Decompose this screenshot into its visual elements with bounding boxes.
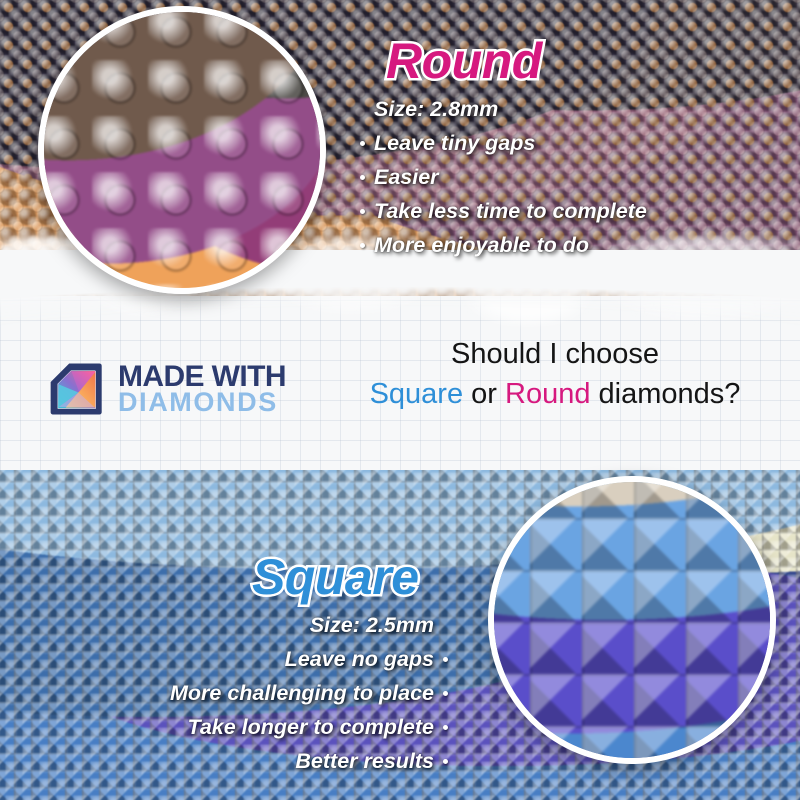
list-item: Leave no gaps bbox=[170, 642, 448, 676]
round-title: Round bbox=[386, 32, 542, 90]
bullet-dot bbox=[360, 175, 365, 180]
brand-name-line2: DIAMONDS bbox=[118, 390, 286, 415]
list-item: More enjoyable to do bbox=[360, 228, 647, 262]
diamond-logo-icon bbox=[46, 360, 104, 418]
square-drills-zoom-circle bbox=[488, 476, 776, 764]
round-bullet-text: Easier bbox=[374, 160, 439, 194]
square-size-label: Size: 2.5mm bbox=[310, 608, 434, 642]
brand-wordmark: MADE WITH DIAMONDS bbox=[118, 363, 286, 415]
round-bullet-text: More enjoyable to do bbox=[374, 228, 589, 262]
question-connector: or bbox=[463, 378, 505, 410]
question-line2: Square or Round diamonds? bbox=[330, 374, 780, 414]
round-bullet-text: Leave tiny gaps bbox=[374, 126, 535, 160]
list-item: Take longer to complete bbox=[170, 710, 448, 744]
brand-name-line1: MADE WITH bbox=[118, 363, 286, 391]
bullet-dot bbox=[443, 725, 448, 730]
list-item: Take less time to complete bbox=[360, 194, 647, 228]
bullet-dot bbox=[443, 759, 448, 764]
square-zoom-texture bbox=[488, 476, 776, 764]
list-item: Better results bbox=[170, 744, 448, 778]
square-size-line: Size: 2.5mm bbox=[170, 608, 448, 642]
bullet-dot bbox=[360, 243, 365, 248]
question-line1: Should I choose bbox=[451, 338, 659, 370]
square-bullet-text: Leave no gaps bbox=[285, 642, 434, 676]
list-item: More challenging to place bbox=[170, 676, 448, 710]
list-item: Easier bbox=[360, 160, 647, 194]
square-bullet-list: Size: 2.5mm Leave no gaps More challengi… bbox=[170, 608, 448, 778]
round-drills-zoom-circle bbox=[38, 6, 326, 294]
round-bullet-text: Take less time to complete bbox=[374, 194, 647, 228]
square-title: Square bbox=[252, 548, 419, 606]
question-tail: diamonds? bbox=[590, 378, 740, 410]
square-bullet-text: More challenging to place bbox=[170, 676, 434, 710]
brand-logo[interactable]: MADE WITH DIAMONDS bbox=[46, 360, 286, 418]
round-zoom-texture bbox=[38, 6, 326, 294]
round-size-line: Size: 2.8mm bbox=[360, 92, 647, 126]
round-bullet-list: Size: 2.8mm Leave tiny gaps Easier Take … bbox=[360, 92, 647, 262]
round-size-label: Size: 2.8mm bbox=[374, 92, 498, 126]
bullet-dot bbox=[360, 141, 365, 146]
infographic-canvas: Round Size: 2.8mm Leave tiny gaps Easier… bbox=[0, 0, 800, 800]
list-item: Leave tiny gaps bbox=[360, 126, 647, 160]
bullet-dot bbox=[443, 691, 448, 696]
bullet-dot bbox=[360, 209, 365, 214]
bullet-dot bbox=[443, 657, 448, 662]
square-bullet-text: Better results bbox=[295, 744, 434, 778]
question-round-word: Round bbox=[505, 378, 590, 410]
square-bullet-text: Take longer to complete bbox=[187, 710, 434, 744]
question-block: Should I choose Square or Round diamonds… bbox=[330, 334, 780, 414]
question-square-word: Square bbox=[370, 378, 464, 410]
